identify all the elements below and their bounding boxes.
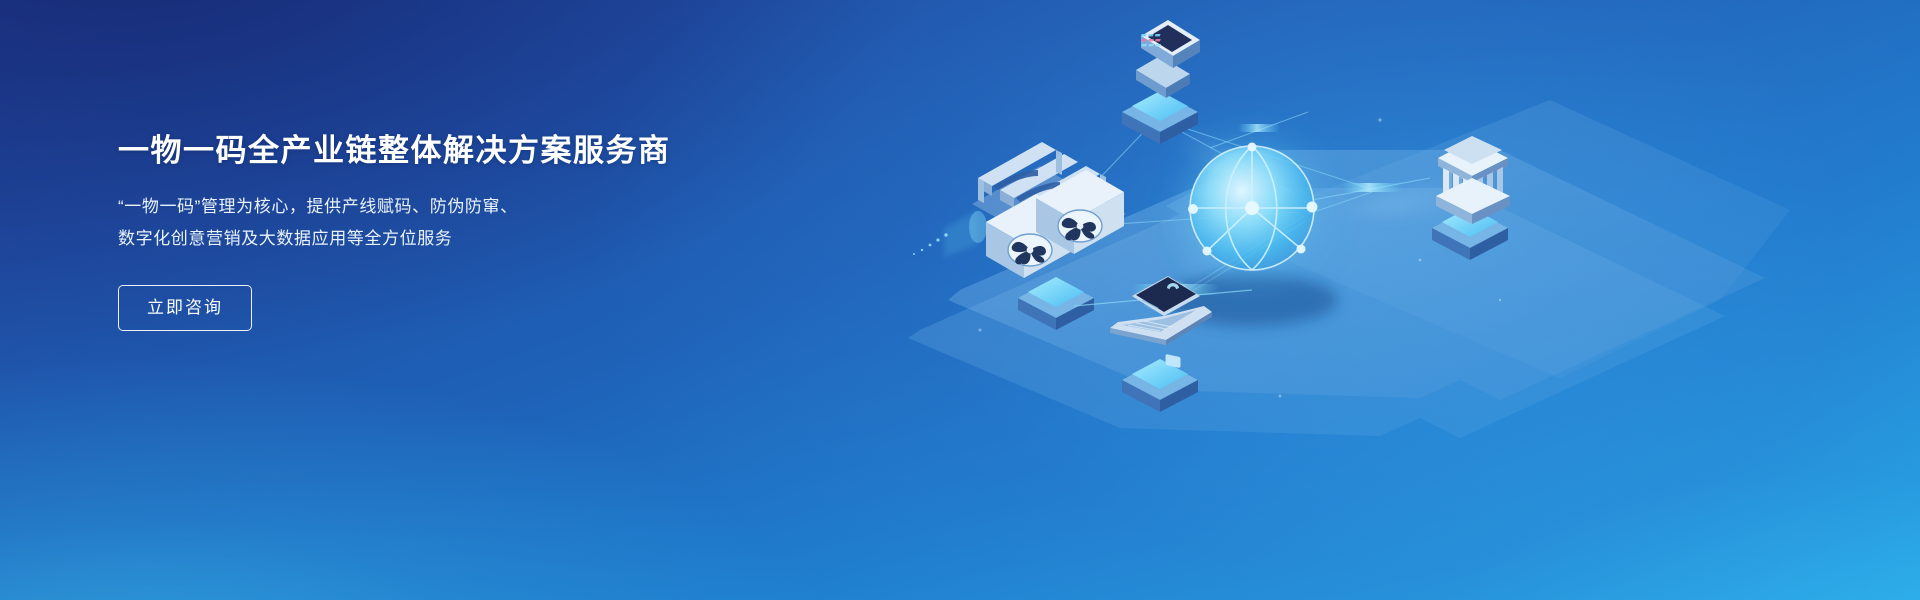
pos-terminal-node — [1122, 20, 1200, 144]
hero-subtitle: “一物一码”管理为核心，提供产线赋码、防伪防窜、 数字化创意营销及大数据应用等全… — [118, 191, 818, 255]
subtitle-line-2: 数字化创意营销及大数据应用等全方位服务 — [118, 223, 818, 255]
bank-building-icon — [1436, 136, 1510, 224]
airflow-particles — [913, 210, 987, 258]
pos-terminal-icon — [1136, 20, 1200, 98]
page-title: 一物一码全产业链整体解决方案服务商 — [118, 132, 818, 169]
cta-container: 立即咨询 — [118, 285, 818, 331]
consult-now-button[interactable]: 立即咨询 — [118, 285, 252, 331]
hero-copy: 一物一码全产业链整体解决方案服务商 “一物一码”管理为核心，提供产线赋码、防伪防… — [118, 132, 818, 331]
subtitle-line-1: “一物一码”管理为核心，提供产线赋码、防伪防窜、 — [118, 191, 818, 223]
isometric-illustration — [860, 0, 1920, 600]
hero-banner: 一物一码全产业链整体解决方案服务商 “一物一码”管理为核心，提供产线赋码、防伪防… — [0, 0, 1920, 600]
